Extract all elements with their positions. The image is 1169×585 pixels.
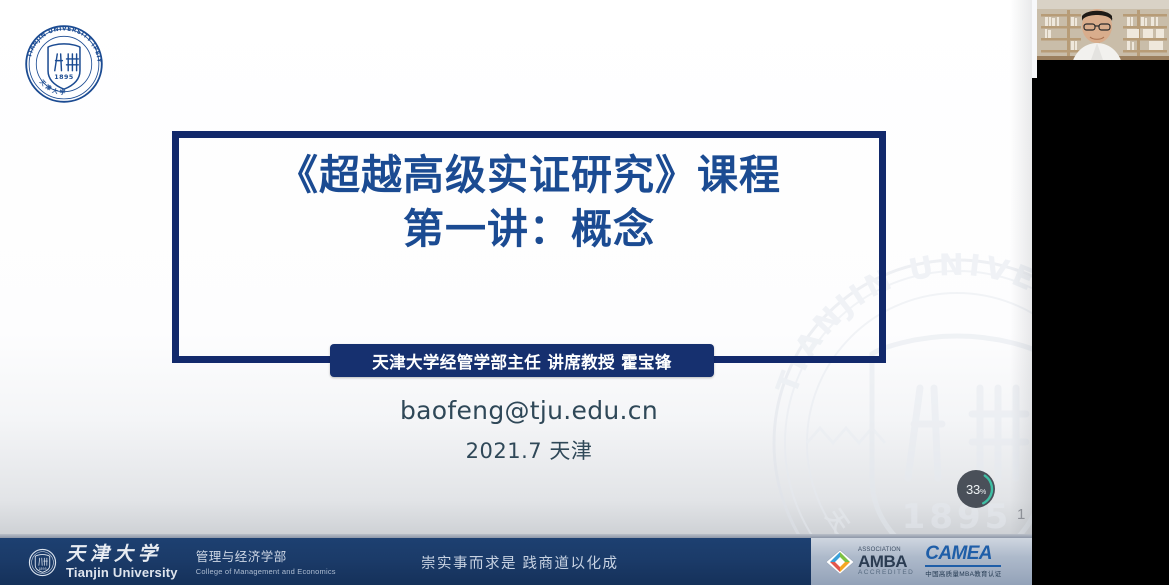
date-and-place: 2021.7 天津 — [172, 435, 886, 465]
footer-department-en: College of Management and Economics — [196, 568, 336, 576]
footer-university-name: 天津大学 Tianjin University — [66, 545, 178, 579]
speed-unit: % — [980, 489, 986, 496]
footer-university-cn: 天津大学 — [66, 545, 178, 564]
camea-logo: CAMEA 中国高质量MBA教育认证 — [925, 544, 1001, 579]
slide-canvas: TIANJIN UNIVERSITY (PEIYANG) 1895 天 津 大 … — [0, 0, 1032, 538]
speed-value: 33 — [966, 482, 980, 497]
contact-block: baofeng@tju.edu.cn 2021.7 天津 — [172, 396, 886, 465]
amba-logo: ASSOCIATION AMBA ACCREDITED — [825, 547, 914, 577]
video-side-panel — [1032, 0, 1169, 585]
footer-university-seal-icon: 1895 — [28, 548, 57, 577]
footer-branding: 1895 天津大学 Tianjin University 管理与经济学部 Col… — [28, 545, 336, 579]
speed-badge-label: 33% — [957, 470, 995, 508]
footer-accreditation-panel: ASSOCIATION AMBA ACCREDITED CAMEA 中国高质量M… — [811, 538, 1032, 585]
slide-title-line-2: 第一讲：概念 — [172, 204, 886, 254]
playback-speed-badge[interactable]: 33% — [957, 470, 995, 508]
speaker-banner: 天津大学经管学部主任 讲席教授 霍宝锋 — [330, 344, 714, 377]
camea-wordmark: CAMEA — [925, 544, 1001, 563]
slide-title-block: 《超越高级实证研究》课程 第一讲：概念 — [172, 150, 886, 290]
slide-footer-bar: 1895 天津大学 Tianjin University 管理与经济学部 Col… — [0, 538, 1032, 585]
self-view-video-tile[interactable] — [1037, 0, 1169, 78]
slide-edge-shade — [1010, 0, 1032, 538]
tianjin-university-logo: TIANJIN UNIVERSITY (PEIYANG UNIVERSITY) … — [22, 22, 106, 106]
amba-diamond-icon — [825, 549, 855, 575]
svg-text:1895: 1895 — [38, 566, 46, 570]
footer-department-name: 管理与经济学部 College of Management and Econom… — [196, 549, 336, 575]
speaker-banner-label: 天津大学经管学部主任 讲席教授 霍宝锋 — [372, 349, 672, 373]
camea-subtitle: 中国高质量MBA教育认证 — [925, 572, 1001, 579]
slide-title-line-1: 《超越高级实证研究》课程 — [172, 150, 886, 200]
svg-text:TIANJIN UNIVERSITY (PEIYANG UN: TIANJIN UNIVERSITY (PEIYANG UNIVERSITY) — [22, 22, 102, 64]
amba-a-letter: A — [858, 552, 870, 571]
webcam-scene — [1037, 0, 1169, 78]
video-panel-background — [1032, 78, 1169, 585]
amba-wordmark: ASSOCIATION AMBA ACCREDITED — [858, 547, 914, 577]
amba-main-label: MBA — [870, 552, 907, 571]
camea-underline — [925, 565, 1001, 567]
footer-motto: 崇实事而求是 践商道以化成 — [421, 552, 619, 573]
svg-text:1895: 1895 — [54, 74, 74, 81]
slide-page-number: 1 — [1017, 506, 1025, 523]
amba-accredited-label: ACCREDITED — [858, 570, 914, 577]
app-stage: TIANJIN UNIVERSITY (PEIYANG) 1895 天 津 大 … — [0, 0, 1169, 585]
slide-viewport[interactable]: TIANJIN UNIVERSITY (PEIYANG) 1895 天 津 大 … — [0, 0, 1032, 585]
presenter-email: baofeng@tju.edu.cn — [172, 396, 886, 425]
footer-university-en: Tianjin University — [66, 566, 178, 579]
footer-department-cn: 管理与经济学部 — [196, 551, 336, 564]
